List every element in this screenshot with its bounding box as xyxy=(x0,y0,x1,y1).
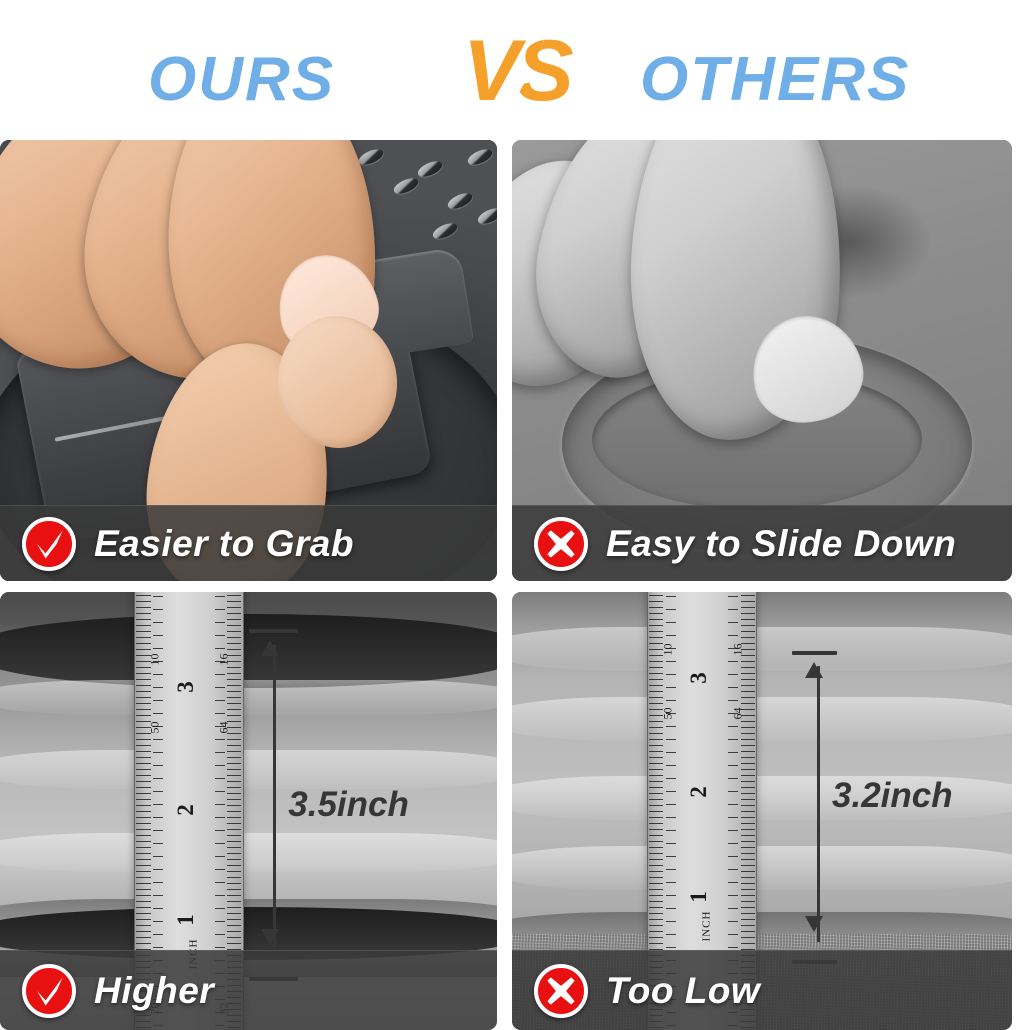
dimension-line xyxy=(817,666,820,942)
ruler-metric-64: 64 xyxy=(217,721,232,733)
check-icon xyxy=(22,964,76,1018)
ruler-metric-16: 16 xyxy=(730,644,745,656)
container-ring-1 xyxy=(0,680,497,715)
heading-others: OTHERS xyxy=(640,44,910,115)
panel-ours-grab: Easier to Grab xyxy=(0,140,497,581)
dimension-top-cap xyxy=(249,629,299,633)
container-ring-3 xyxy=(0,833,497,872)
panel-others-slide: Easy to Slide Down xyxy=(512,140,1012,581)
caption-text: Easier to Grab xyxy=(94,523,354,565)
panel-ours-height: 10 16 3 50 64 2 1 INCH 20 32 3.5inch xyxy=(0,592,497,1030)
ruler-metric-64: 64 xyxy=(730,708,745,720)
panel-grid: Easier to Grab Easy t xyxy=(0,140,1024,1030)
steamer-lid xyxy=(0,614,497,688)
ruler-unit-label: INCH xyxy=(700,911,712,942)
dimension-line xyxy=(273,645,276,956)
comparison-infographic: OURS VS OTHERS xyxy=(0,0,1024,1030)
cross-icon xyxy=(534,964,588,1018)
ruler-inch-3: 3 xyxy=(173,682,199,694)
ruler-metric-10: 10 xyxy=(148,653,163,665)
caption-bar-easier-to-grab: Easier to Grab xyxy=(0,505,497,581)
caption-text: Easy to Slide Down xyxy=(606,523,956,565)
ruler-metric-50: 50 xyxy=(661,708,676,720)
container-ring-1 xyxy=(512,627,1012,671)
caption-text: Higher xyxy=(94,970,214,1012)
dimension-arrow-down xyxy=(261,929,279,945)
vs-logo: VS xyxy=(455,0,585,140)
dimension-arrow-down xyxy=(805,916,823,932)
vs-label: VS xyxy=(463,28,570,114)
dimension-top-cap xyxy=(792,651,837,655)
panel-others-height: 10 16 3 50 64 2 1 INCH 20 32 3.2inch xyxy=(512,592,1012,1030)
heading-ours: OURS xyxy=(148,44,335,115)
measurement-label: 3.2inch xyxy=(832,776,953,816)
ruler-inch-2: 2 xyxy=(686,786,712,798)
caption-bar-easy-to-slide-down: Easy to Slide Down xyxy=(512,505,1012,581)
caption-bar-higher: Higher xyxy=(0,950,497,1030)
ruler-metric-10: 10 xyxy=(661,644,676,656)
cross-icon xyxy=(534,517,588,571)
container-ring-4 xyxy=(512,846,1012,890)
check-icon xyxy=(22,517,76,571)
ruler-inch-3: 3 xyxy=(686,672,712,684)
ruler-inch-1: 1 xyxy=(173,914,199,926)
caption-text: Too Low xyxy=(606,970,760,1012)
header: OURS VS OTHERS xyxy=(0,0,1024,140)
measurement-label: 3.5inch xyxy=(288,785,409,825)
container-ring-2 xyxy=(512,697,1012,741)
caption-bar-too-low: Too Low xyxy=(512,950,1012,1030)
ruler-inch-2: 2 xyxy=(173,805,199,817)
ruler-inch-1: 1 xyxy=(686,891,712,903)
ruler-metric-16: 16 xyxy=(217,653,232,665)
ruler-metric-50: 50 xyxy=(148,721,163,733)
container-ring-2 xyxy=(0,750,497,789)
